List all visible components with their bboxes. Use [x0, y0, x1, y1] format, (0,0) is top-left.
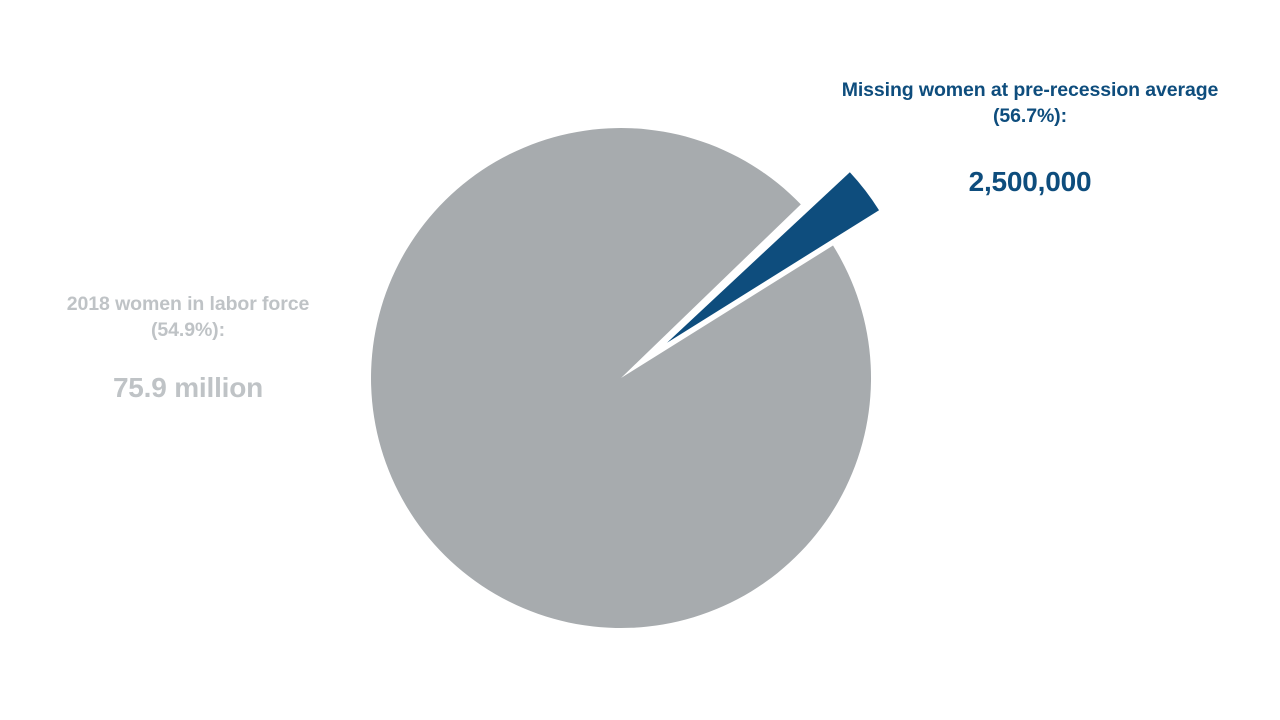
label-women-in-labor-force: 2018 women in labor force (54.9%): 75.9 …: [8, 292, 368, 405]
label-gray-value: 75.9 million: [8, 371, 368, 405]
label-gray-title-line2: (54.9%):: [151, 319, 225, 341]
label-gray-title-line1: 2018 women in labor force: [67, 293, 309, 315]
label-blue-value: 2,500,000: [780, 165, 1280, 199]
label-blue-title-line2: (56.7%):: [993, 105, 1067, 127]
label-gray-title: 2018 women in labor force (54.9%):: [8, 292, 368, 343]
label-blue-title: Missing women at pre-recession average (…: [780, 78, 1280, 129]
pie-slice-women-in-labor-force: [371, 128, 871, 628]
label-missing-women: Missing women at pre-recession average (…: [780, 78, 1280, 199]
label-blue-title-line1: Missing women at pre-recession average: [842, 79, 1219, 101]
pie-chart-figure: 2018 women in labor force (54.9%): 75.9 …: [0, 0, 1280, 720]
